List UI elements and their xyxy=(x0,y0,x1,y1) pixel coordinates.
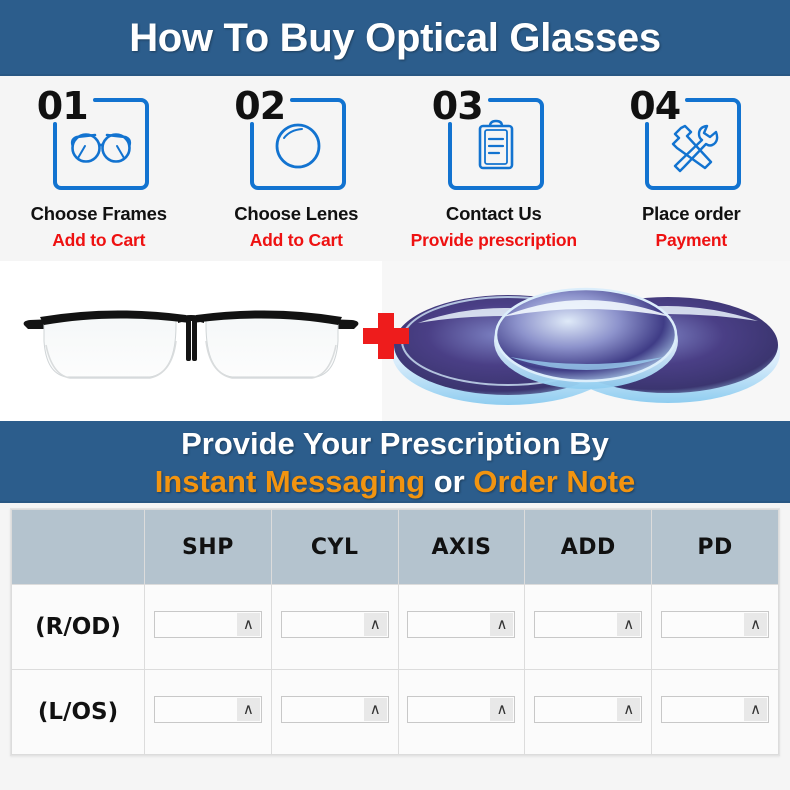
chevron-up-icon[interactable]: ∧ xyxy=(744,613,767,636)
step-subtitle-3: Provide prescription xyxy=(395,230,593,251)
select-left-pd[interactable]: ∧ xyxy=(661,696,769,723)
chevron-up-icon[interactable]: ∧ xyxy=(237,613,260,636)
prescription-banner: Provide Your Prescription By Instant Mes… xyxy=(0,421,790,503)
step-title-3: Contact Us xyxy=(395,203,593,225)
table-corner-cell xyxy=(12,510,145,585)
prescription-table: SHP CYL AXIS ADD PD (R/OD) ∧ xyxy=(11,509,779,755)
step-title-4: Place order xyxy=(593,203,790,225)
step-title-1: Choose Frames xyxy=(0,203,198,225)
table-row-right-eye: (R/OD) ∧ ∧ ∧ xyxy=(12,585,779,670)
select-right-shp[interactable]: ∧ xyxy=(154,611,262,638)
cell-right-add: ∧ xyxy=(525,585,652,670)
cell-left-pd: ∧ xyxy=(652,670,779,755)
order-note-label: Order Note xyxy=(473,464,635,499)
frame-illustration xyxy=(0,261,382,421)
cell-left-shp: ∧ xyxy=(145,670,272,755)
cell-right-cyl: ∧ xyxy=(271,585,398,670)
table-row-left-eye: (L/OS) ∧ ∧ ∧ xyxy=(12,670,779,755)
step-number-1: 01 xyxy=(37,84,88,128)
chevron-up-icon[interactable]: ∧ xyxy=(744,698,767,721)
cell-left-axis: ∧ xyxy=(398,670,525,755)
eyeglass-frame-photo xyxy=(0,261,382,421)
column-header-cyl: CYL xyxy=(271,510,398,585)
cell-left-add: ∧ xyxy=(525,670,652,755)
select-right-axis[interactable]: ∧ xyxy=(407,611,515,638)
select-right-add[interactable]: ∧ xyxy=(534,611,642,638)
prescription-banner-line1: Provide Your Prescription By xyxy=(0,425,790,463)
row-label-left-eye: (L/OS) xyxy=(12,670,145,755)
cell-left-cyl: ∧ xyxy=(271,670,398,755)
instant-messaging-label: Instant Messaging xyxy=(155,464,425,499)
step-subtitle-2: Add to Cart xyxy=(198,230,396,251)
chevron-up-icon[interactable]: ∧ xyxy=(617,613,640,636)
row-label-right-eye: (R/OD) xyxy=(12,585,145,670)
plus-icon xyxy=(363,313,409,359)
step-item-1: 01 Choose Frames Add to Cart xyxy=(0,88,198,251)
step-icon-wrap-2: 02 xyxy=(232,88,360,196)
column-header-shp: SHP xyxy=(145,510,272,585)
select-left-axis[interactable]: ∧ xyxy=(407,696,515,723)
prescription-banner-line2: Instant Messaging or Order Note xyxy=(0,463,790,501)
page-root: How To Buy Optical Glasses 01 Ch xyxy=(0,0,790,790)
prescription-table-wrapper: SHP CYL AXIS ADD PD (R/OD) ∧ xyxy=(10,508,780,756)
prescription-table-head: SHP CYL AXIS ADD PD xyxy=(12,510,779,585)
prescription-table-body: (R/OD) ∧ ∧ ∧ xyxy=(12,585,779,755)
cell-right-axis: ∧ xyxy=(398,585,525,670)
page-title: How To Buy Optical Glasses xyxy=(129,16,661,60)
select-left-cyl[interactable]: ∧ xyxy=(281,696,389,723)
header-banner: How To Buy Optical Glasses xyxy=(0,0,790,76)
select-left-add[interactable]: ∧ xyxy=(534,696,642,723)
step-icon-wrap-3: 03 xyxy=(430,88,558,196)
step-icon-wrap-4: 04 xyxy=(627,88,755,196)
chevron-up-icon[interactable]: ∧ xyxy=(490,698,513,721)
chevron-up-icon[interactable]: ∧ xyxy=(490,613,513,636)
step-number-3: 03 xyxy=(432,84,483,128)
select-right-cyl[interactable]: ∧ xyxy=(281,611,389,638)
chevron-up-icon[interactable]: ∧ xyxy=(364,698,387,721)
step-subtitle-1: Add to Cart xyxy=(0,230,198,251)
column-header-add: ADD xyxy=(525,510,652,585)
lenses-illustration xyxy=(382,261,790,421)
select-right-pd[interactable]: ∧ xyxy=(661,611,769,638)
step-subtitle-4: Payment xyxy=(593,230,790,251)
cell-right-pd: ∧ xyxy=(652,585,779,670)
column-header-axis: AXIS xyxy=(398,510,525,585)
step-item-4: 04 Place order Payment xyxy=(593,88,790,251)
select-left-shp[interactable]: ∧ xyxy=(154,696,262,723)
chevron-up-icon[interactable]: ∧ xyxy=(364,613,387,636)
step-item-3: 03 Contact Us Provide prescription xyxy=(395,88,593,251)
chevron-up-icon[interactable]: ∧ xyxy=(617,698,640,721)
connector-label: or xyxy=(434,464,465,499)
step-icon-wrap-1: 01 xyxy=(35,88,163,196)
step-item-2: 02 Choose Lenes Add to Cart xyxy=(198,88,396,251)
steps-section: 01 Choose Frames Add to Cart 02 xyxy=(0,76,790,257)
cell-right-shp: ∧ xyxy=(145,585,272,670)
product-images-section xyxy=(0,261,790,421)
chevron-up-icon[interactable]: ∧ xyxy=(237,698,260,721)
step-number-2: 02 xyxy=(234,84,285,128)
optical-lenses-photo xyxy=(382,261,790,421)
step-number-4: 04 xyxy=(629,84,680,128)
step-title-2: Choose Lenes xyxy=(198,203,396,225)
table-header-row: SHP CYL AXIS ADD PD xyxy=(12,510,779,585)
column-header-pd: PD xyxy=(652,510,779,585)
